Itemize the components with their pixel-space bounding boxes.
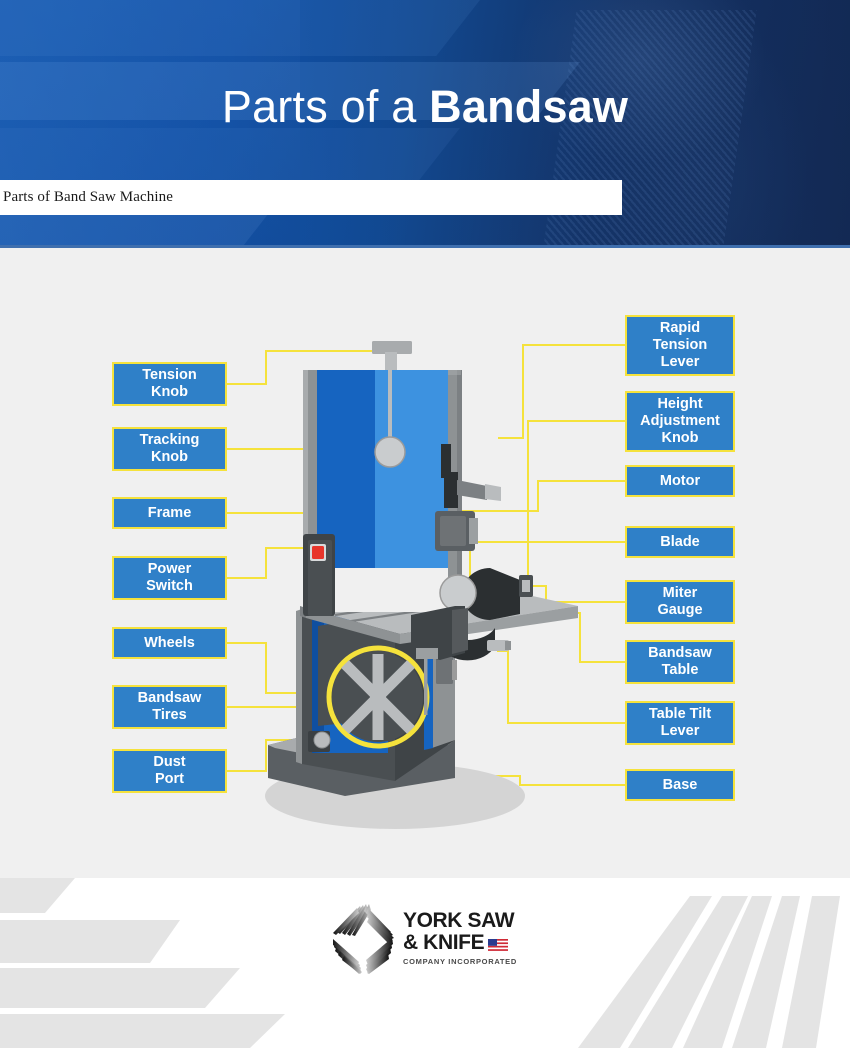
label-base[interactable]: Base [625,769,735,801]
footer: YORK SAW & KNIFE COMPANY INCORPORATE [0,868,850,1048]
subtitle-bar: Parts of Band Saw Machine [0,180,622,215]
page-title: Parts of a Bandsaw [0,84,850,129]
subtitle-text: Parts of Band Saw Machine [0,189,173,206]
cabinet-latch-tab [452,660,457,680]
label-text: Frame [148,505,192,522]
us-flag-icon [488,939,508,951]
label-tension-knob[interactable]: Tension Knob [112,362,227,406]
saw-blade-logo-icon [333,902,395,974]
label-table-tilt-lever[interactable]: Table Tilt Lever [625,701,735,745]
label-height-adjustment-knob[interactable]: Height Adjustment Knob [625,391,735,452]
connector-power-switch [227,548,312,578]
rapid-tension-lever-grip [485,484,501,501]
label-text: Tracking Knob [140,432,200,466]
label-text: Rapid Tension Lever [653,320,708,371]
table-tilt-lever-tip [505,641,511,650]
miter-gauge-knob [522,580,530,592]
label-text: Miter Gauge [657,585,702,619]
label-rapid-tension-lever[interactable]: Rapid Tension Lever [625,315,735,376]
label-text: Table Tilt Lever [649,706,711,740]
label-blade[interactable]: Blade [625,526,735,558]
infographic-page: Parts of a Bandsaw Parts of Band Saw Mac… [0,0,850,1048]
header-banner: Parts of a Bandsaw Parts of Band Saw Mac… [0,0,850,248]
blade-guide-face [440,516,466,546]
housing-cut [317,568,448,612]
label-text: Motor [660,473,700,490]
cabinet-left-edge [296,609,302,764]
bandsaw-machine [265,341,580,829]
housing-side-bracket [441,444,451,478]
label-motor[interactable]: Motor [625,465,735,497]
label-tracking-knob[interactable]: Tracking Knob [112,427,227,471]
bandsaw-diagram: Tension Knob Tracking Knob Frame Power S… [0,248,850,868]
label-bandsaw-tires[interactable]: Bandsaw Tires [112,685,227,729]
company-logo: YORK SAW & KNIFE COMPANY INCORPORATE [0,902,850,974]
label-wheels[interactable]: Wheels [112,627,227,659]
label-power-switch[interactable]: Power Switch [112,556,227,600]
connector-bandsaw-table [564,613,625,662]
label-bandsaw-table[interactable]: Bandsaw Table [625,640,735,684]
page-title-bold: Bandsaw [429,81,628,132]
logo-line-2: & KNIFE [403,932,484,954]
blade-guide-edge [469,518,478,544]
cabinet-latch [436,656,453,684]
wheel-hub [370,689,386,705]
label-text: Bandsaw Table [648,645,712,679]
motor-block-side [452,608,468,654]
label-text: Dust Port [153,754,185,788]
header-diagonal-band [0,0,480,56]
tension-knob-stem [385,352,397,370]
page-title-light: Parts of a [222,81,429,132]
blade [424,653,428,715]
label-miter-gauge[interactable]: Miter Gauge [625,580,735,624]
header-diagonal-band [0,128,460,180]
connector-rapid-tension-lever [498,345,625,438]
power-switch-button [312,546,324,559]
label-text: Bandsaw Tires [138,690,202,724]
label-text: Wheels [144,635,195,652]
label-frame[interactable]: Frame [112,497,227,529]
label-dust-port[interactable]: Dust Port [112,749,227,793]
label-text: Tension Knob [142,367,197,401]
label-text: Height Adjustment Knob [640,396,720,447]
logo-line-3: COMPANY INCORPORATED [403,957,517,966]
logo-line-1: YORK SAW [403,910,517,932]
label-text: Blade [660,534,700,551]
label-text: Base [663,777,698,794]
header-bottom-rule [0,245,850,248]
label-text: Power Switch [146,561,193,595]
